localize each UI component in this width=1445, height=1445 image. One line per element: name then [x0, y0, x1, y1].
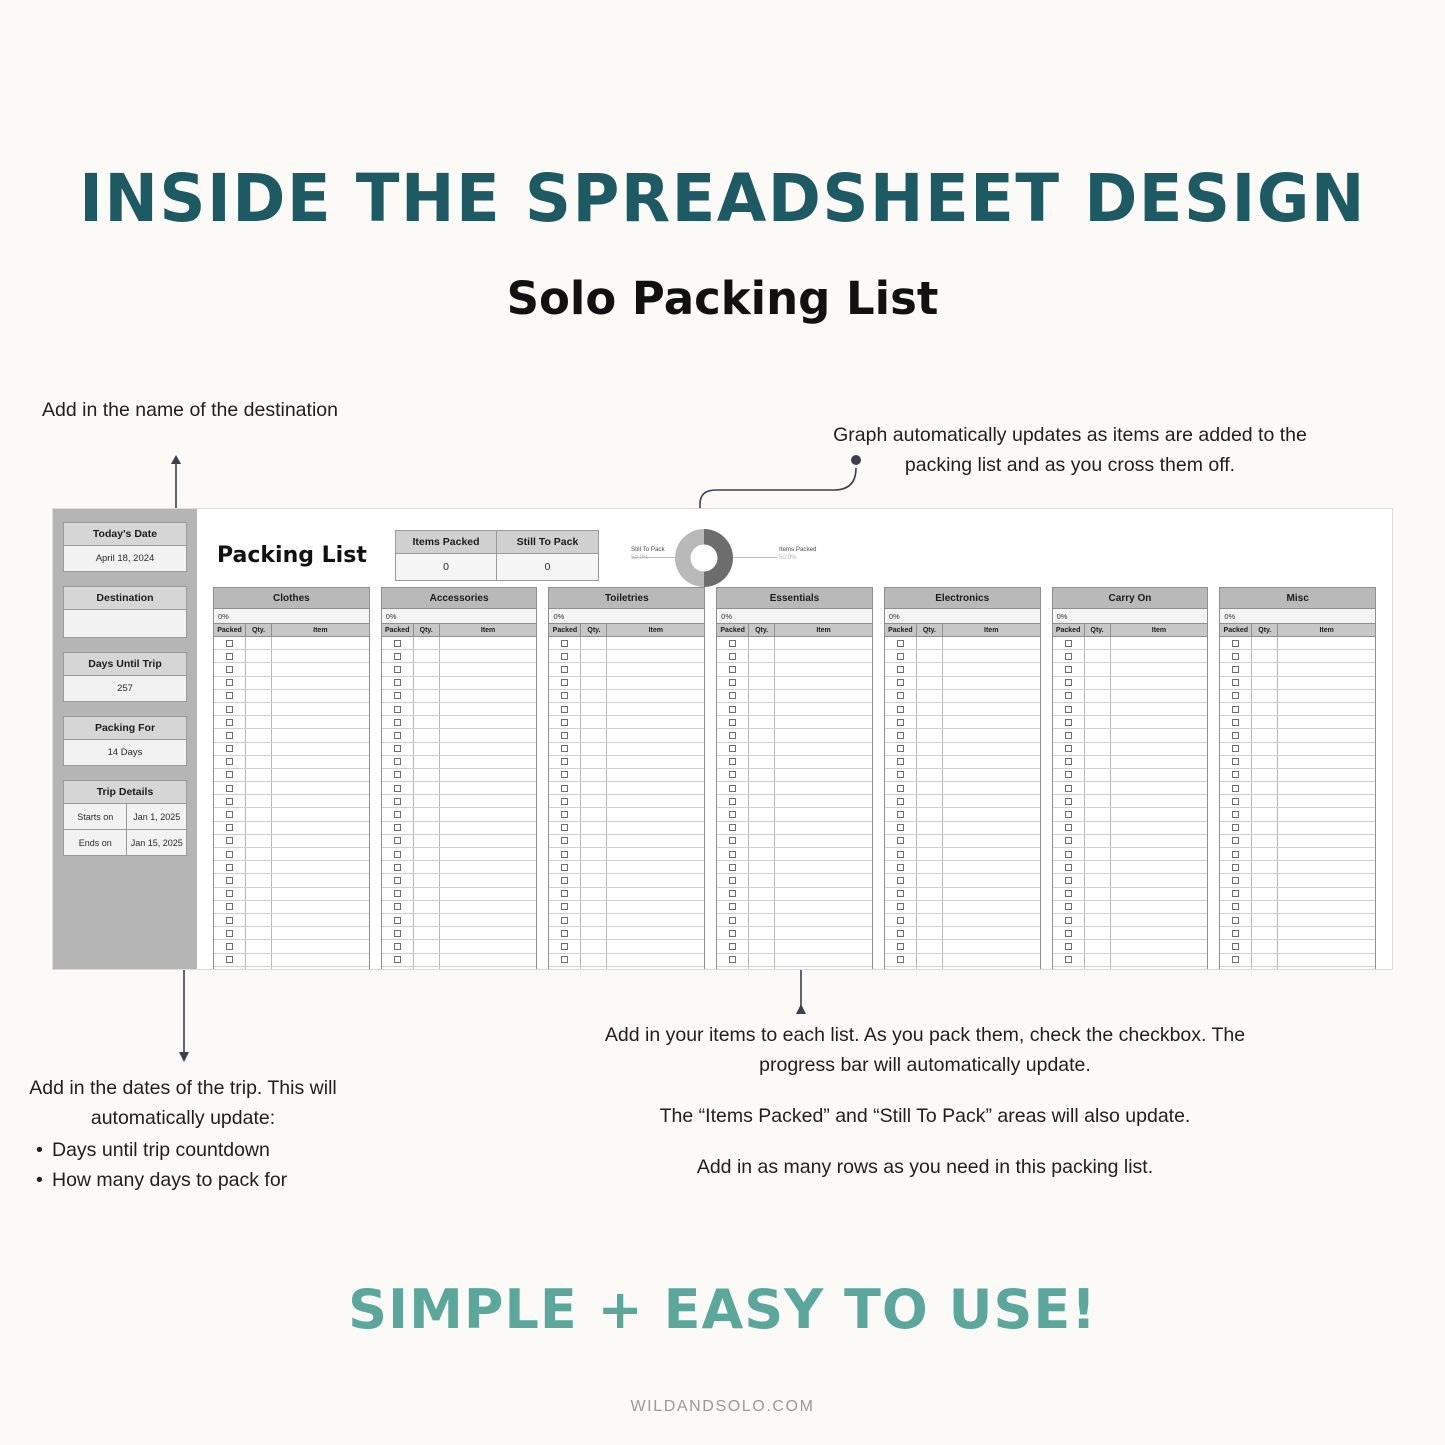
- table-row[interactable]: [717, 967, 872, 970]
- qty-cell[interactable]: [1085, 716, 1111, 728]
- table-row[interactable]: [717, 782, 872, 795]
- table-row[interactable]: [382, 729, 537, 742]
- table-row[interactable]: [1053, 940, 1208, 953]
- table-row[interactable]: [1053, 967, 1208, 970]
- checkbox-icon[interactable]: [1232, 745, 1239, 752]
- packed-cell[interactable]: [382, 822, 414, 834]
- table-row[interactable]: [549, 716, 704, 729]
- qty-cell[interactable]: [1085, 861, 1111, 873]
- qty-cell[interactable]: [917, 703, 943, 715]
- packed-cell[interactable]: [1220, 901, 1252, 913]
- checkbox-icon[interactable]: [729, 837, 736, 844]
- checkbox-icon[interactable]: [1232, 943, 1239, 950]
- packed-cell[interactable]: [1053, 835, 1085, 847]
- qty-cell[interactable]: [1085, 769, 1111, 781]
- qty-cell[interactable]: [414, 914, 440, 926]
- checkbox-icon[interactable]: [1065, 706, 1072, 713]
- packed-cell[interactable]: [885, 940, 917, 952]
- checkbox-icon[interactable]: [897, 785, 904, 792]
- item-cell[interactable]: [1111, 874, 1208, 886]
- item-cell[interactable]: [607, 901, 704, 913]
- packed-cell[interactable]: [717, 782, 749, 794]
- checkbox-icon[interactable]: [561, 956, 568, 963]
- qty-cell[interactable]: [246, 940, 272, 952]
- packed-cell[interactable]: [214, 690, 246, 702]
- qty-cell[interactable]: [749, 888, 775, 900]
- table-row[interactable]: [382, 914, 537, 927]
- packed-cell[interactable]: [214, 822, 246, 834]
- packed-cell[interactable]: [1220, 835, 1252, 847]
- item-cell[interactable]: [775, 940, 872, 952]
- qty-cell[interactable]: [246, 808, 272, 820]
- item-cell[interactable]: [775, 927, 872, 939]
- packed-cell[interactable]: [1053, 822, 1085, 834]
- table-row[interactable]: [214, 637, 369, 650]
- item-cell[interactable]: [272, 756, 369, 768]
- packed-cell[interactable]: [1220, 914, 1252, 926]
- table-row[interactable]: [1220, 756, 1375, 769]
- packed-cell[interactable]: [717, 954, 749, 966]
- table-row[interactable]: [717, 650, 872, 663]
- packed-cell[interactable]: [382, 743, 414, 755]
- checkbox-icon[interactable]: [1065, 943, 1072, 950]
- qty-cell[interactable]: [581, 848, 607, 860]
- checkbox-icon[interactable]: [729, 851, 736, 858]
- item-cell[interactable]: [440, 967, 537, 970]
- qty-cell[interactable]: [246, 769, 272, 781]
- checkbox-icon[interactable]: [226, 653, 233, 660]
- qty-cell[interactable]: [749, 677, 775, 689]
- item-cell[interactable]: [440, 716, 537, 728]
- checkbox-icon[interactable]: [1065, 877, 1072, 884]
- table-row[interactable]: [1220, 650, 1375, 663]
- packed-cell[interactable]: [1053, 861, 1085, 873]
- checkbox-icon[interactable]: [729, 679, 736, 686]
- item-cell[interactable]: [943, 690, 1040, 702]
- qty-cell[interactable]: [414, 663, 440, 675]
- qty-cell[interactable]: [246, 888, 272, 900]
- item-cell[interactable]: [440, 637, 537, 649]
- checkbox-icon[interactable]: [1232, 679, 1239, 686]
- table-row[interactable]: [717, 927, 872, 940]
- packed-cell[interactable]: [885, 716, 917, 728]
- packed-cell[interactable]: [1053, 874, 1085, 886]
- qty-cell[interactable]: [414, 690, 440, 702]
- packed-cell[interactable]: [549, 940, 581, 952]
- item-cell[interactable]: [1278, 808, 1375, 820]
- table-row[interactable]: [717, 756, 872, 769]
- table-row[interactable]: [885, 822, 1040, 835]
- table-row[interactable]: [382, 756, 537, 769]
- table-row[interactable]: [214, 848, 369, 861]
- item-cell[interactable]: [272, 650, 369, 662]
- qty-cell[interactable]: [1085, 822, 1111, 834]
- item-cell[interactable]: [1278, 729, 1375, 741]
- table-row[interactable]: [1220, 677, 1375, 690]
- item-cell[interactable]: [607, 808, 704, 820]
- packed-cell[interactable]: [885, 901, 917, 913]
- table-row[interactable]: [1220, 914, 1375, 927]
- packed-cell[interactable]: [885, 650, 917, 662]
- table-row[interactable]: [549, 848, 704, 861]
- table-row[interactable]: [1053, 861, 1208, 874]
- packed-cell[interactable]: [1053, 650, 1085, 662]
- checkbox-icon[interactable]: [394, 811, 401, 818]
- checkbox-icon[interactable]: [561, 917, 568, 924]
- qty-cell[interactable]: [1085, 795, 1111, 807]
- packed-cell[interactable]: [549, 769, 581, 781]
- qty-cell[interactable]: [246, 703, 272, 715]
- table-row[interactable]: [549, 940, 704, 953]
- checkbox-icon[interactable]: [394, 798, 401, 805]
- checkbox-icon[interactable]: [729, 666, 736, 673]
- packed-cell[interactable]: [885, 769, 917, 781]
- packed-cell[interactable]: [549, 795, 581, 807]
- packed-cell[interactable]: [1053, 782, 1085, 794]
- qty-cell[interactable]: [581, 743, 607, 755]
- checkbox-icon[interactable]: [897, 824, 904, 831]
- table-row[interactable]: [1220, 888, 1375, 901]
- checkbox-icon[interactable]: [561, 903, 568, 910]
- table-row[interactable]: [1053, 782, 1208, 795]
- item-cell[interactable]: [272, 663, 369, 675]
- checkbox-icon[interactable]: [561, 890, 568, 897]
- qty-cell[interactable]: [246, 743, 272, 755]
- item-cell[interactable]: [1278, 677, 1375, 689]
- packed-cell[interactable]: [1220, 822, 1252, 834]
- item-cell[interactable]: [1111, 637, 1208, 649]
- item-cell[interactable]: [607, 663, 704, 675]
- packed-cell[interactable]: [214, 650, 246, 662]
- item-cell[interactable]: [775, 808, 872, 820]
- item-cell[interactable]: [1111, 888, 1208, 900]
- qty-cell[interactable]: [917, 743, 943, 755]
- checkbox-icon[interactable]: [897, 864, 904, 871]
- checkbox-icon[interactable]: [1065, 930, 1072, 937]
- item-cell[interactable]: [440, 927, 537, 939]
- table-row[interactable]: [885, 703, 1040, 716]
- qty-cell[interactable]: [414, 874, 440, 886]
- packed-cell[interactable]: [214, 716, 246, 728]
- item-cell[interactable]: [272, 677, 369, 689]
- item-cell[interactable]: [607, 677, 704, 689]
- item-cell[interactable]: [943, 663, 1040, 675]
- qty-cell[interactable]: [749, 808, 775, 820]
- packed-cell[interactable]: [717, 650, 749, 662]
- qty-cell[interactable]: [581, 927, 607, 939]
- item-cell[interactable]: [607, 861, 704, 873]
- qty-cell[interactable]: [414, 782, 440, 794]
- qty-cell[interactable]: [1252, 967, 1278, 970]
- packed-cell[interactable]: [1053, 940, 1085, 952]
- table-row[interactable]: [1220, 663, 1375, 676]
- checkbox-icon[interactable]: [1232, 917, 1239, 924]
- item-cell[interactable]: [1111, 848, 1208, 860]
- checkbox-icon[interactable]: [226, 877, 233, 884]
- table-row[interactable]: [885, 769, 1040, 782]
- table-row[interactable]: [214, 940, 369, 953]
- packed-cell[interactable]: [885, 677, 917, 689]
- checkbox-icon[interactable]: [226, 706, 233, 713]
- packed-cell[interactable]: [549, 782, 581, 794]
- qty-cell[interactable]: [1252, 927, 1278, 939]
- qty-cell[interactable]: [414, 743, 440, 755]
- item-cell[interactable]: [1111, 677, 1208, 689]
- checkbox-icon[interactable]: [561, 785, 568, 792]
- checkbox-icon[interactable]: [394, 824, 401, 831]
- table-row[interactable]: [214, 690, 369, 703]
- table-row[interactable]: [1053, 901, 1208, 914]
- packed-cell[interactable]: [1220, 650, 1252, 662]
- table-row[interactable]: [549, 861, 704, 874]
- item-cell[interactable]: [943, 716, 1040, 728]
- qty-cell[interactable]: [581, 650, 607, 662]
- table-row[interactable]: [1053, 650, 1208, 663]
- checkbox-icon[interactable]: [561, 877, 568, 884]
- packed-cell[interactable]: [1053, 795, 1085, 807]
- item-cell[interactable]: [1278, 637, 1375, 649]
- packed-cell[interactable]: [885, 927, 917, 939]
- checkbox-icon[interactable]: [226, 943, 233, 950]
- qty-cell[interactable]: [1252, 795, 1278, 807]
- checkbox-icon[interactable]: [1232, 692, 1239, 699]
- checkbox-icon[interactable]: [394, 956, 401, 963]
- qty-cell[interactable]: [917, 756, 943, 768]
- packed-cell[interactable]: [214, 808, 246, 820]
- table-row[interactable]: [1220, 901, 1375, 914]
- checkbox-icon[interactable]: [1232, 771, 1239, 778]
- packed-cell[interactable]: [214, 743, 246, 755]
- table-row[interactable]: [1220, 848, 1375, 861]
- qty-cell[interactable]: [414, 954, 440, 966]
- checkbox-icon[interactable]: [897, 653, 904, 660]
- checkbox-icon[interactable]: [394, 653, 401, 660]
- qty-cell[interactable]: [1085, 729, 1111, 741]
- packed-cell[interactable]: [1220, 861, 1252, 873]
- item-cell[interactable]: [1111, 822, 1208, 834]
- checkbox-icon[interactable]: [1065, 837, 1072, 844]
- packed-cell[interactable]: [1220, 637, 1252, 649]
- packed-cell[interactable]: [717, 874, 749, 886]
- qty-cell[interactable]: [581, 901, 607, 913]
- qty-cell[interactable]: [246, 967, 272, 970]
- item-cell[interactable]: [775, 835, 872, 847]
- checkbox-icon[interactable]: [394, 864, 401, 871]
- qty-cell[interactable]: [917, 650, 943, 662]
- table-row[interactable]: [214, 650, 369, 663]
- item-cell[interactable]: [272, 769, 369, 781]
- item-cell[interactable]: [1278, 743, 1375, 755]
- qty-cell[interactable]: [1085, 835, 1111, 847]
- item-cell[interactable]: [1278, 940, 1375, 952]
- packed-cell[interactable]: [382, 690, 414, 702]
- packed-cell[interactable]: [382, 967, 414, 970]
- item-cell[interactable]: [943, 729, 1040, 741]
- checkbox-icon[interactable]: [897, 930, 904, 937]
- item-cell[interactable]: [607, 914, 704, 926]
- checkbox-icon[interactable]: [226, 824, 233, 831]
- item-cell[interactable]: [775, 954, 872, 966]
- checkbox-icon[interactable]: [897, 917, 904, 924]
- table-row[interactable]: [382, 690, 537, 703]
- table-row[interactable]: [382, 808, 537, 821]
- table-row[interactable]: [549, 822, 704, 835]
- checkbox-icon[interactable]: [1232, 969, 1239, 970]
- qty-cell[interactable]: [1252, 874, 1278, 886]
- item-cell[interactable]: [1111, 703, 1208, 715]
- item-cell[interactable]: [607, 940, 704, 952]
- item-cell[interactable]: [607, 888, 704, 900]
- checkbox-icon[interactable]: [1232, 666, 1239, 673]
- table-row[interactable]: [885, 848, 1040, 861]
- packed-cell[interactable]: [214, 848, 246, 860]
- checkbox-icon[interactable]: [394, 758, 401, 765]
- qty-cell[interactable]: [1252, 690, 1278, 702]
- packed-cell[interactable]: [214, 861, 246, 873]
- table-row[interactable]: [214, 874, 369, 887]
- packed-cell[interactable]: [214, 874, 246, 886]
- packed-cell[interactable]: [214, 835, 246, 847]
- table-row[interactable]: [885, 914, 1040, 927]
- qty-cell[interactable]: [581, 782, 607, 794]
- qty-cell[interactable]: [414, 927, 440, 939]
- checkbox-icon[interactable]: [1232, 706, 1239, 713]
- item-cell[interactable]: [440, 677, 537, 689]
- packed-cell[interactable]: [1053, 967, 1085, 970]
- item-cell[interactable]: [943, 861, 1040, 873]
- item-cell[interactable]: [943, 888, 1040, 900]
- item-cell[interactable]: [775, 743, 872, 755]
- qty-cell[interactable]: [246, 795, 272, 807]
- table-row[interactable]: [885, 650, 1040, 663]
- packed-cell[interactable]: [1220, 756, 1252, 768]
- qty-cell[interactable]: [1085, 690, 1111, 702]
- item-cell[interactable]: [272, 637, 369, 649]
- qty-cell[interactable]: [1252, 677, 1278, 689]
- packed-cell[interactable]: [717, 808, 749, 820]
- checkbox-icon[interactable]: [394, 890, 401, 897]
- item-cell[interactable]: [607, 756, 704, 768]
- qty-cell[interactable]: [581, 690, 607, 702]
- packed-cell[interactable]: [214, 677, 246, 689]
- item-cell[interactable]: [272, 729, 369, 741]
- packed-cell[interactable]: [214, 663, 246, 675]
- table-row[interactable]: [885, 954, 1040, 967]
- qty-cell[interactable]: [1085, 677, 1111, 689]
- packed-cell[interactable]: [1220, 769, 1252, 781]
- packed-cell[interactable]: [382, 835, 414, 847]
- table-row[interactable]: [549, 703, 704, 716]
- item-cell[interactable]: [943, 782, 1040, 794]
- qty-cell[interactable]: [917, 901, 943, 913]
- checkbox-icon[interactable]: [1065, 679, 1072, 686]
- checkbox-icon[interactable]: [1232, 640, 1239, 647]
- checkbox-icon[interactable]: [729, 785, 736, 792]
- table-row[interactable]: [717, 940, 872, 953]
- item-cell[interactable]: [440, 756, 537, 768]
- checkbox-icon[interactable]: [1065, 771, 1072, 778]
- packed-cell[interactable]: [717, 769, 749, 781]
- item-cell[interactable]: [775, 861, 872, 873]
- checkbox-icon[interactable]: [394, 771, 401, 778]
- checkbox-icon[interactable]: [1232, 785, 1239, 792]
- table-row[interactable]: [214, 927, 369, 940]
- table-row[interactable]: [1053, 769, 1208, 782]
- qty-cell[interactable]: [1085, 637, 1111, 649]
- checkbox-icon[interactable]: [729, 640, 736, 647]
- packed-cell[interactable]: [1220, 716, 1252, 728]
- qty-cell[interactable]: [1252, 954, 1278, 966]
- item-cell[interactable]: [607, 716, 704, 728]
- item-cell[interactable]: [272, 888, 369, 900]
- qty-cell[interactable]: [1085, 967, 1111, 970]
- checkbox-icon[interactable]: [1065, 956, 1072, 963]
- packed-cell[interactable]: [214, 703, 246, 715]
- packed-cell[interactable]: [885, 663, 917, 675]
- checkbox-icon[interactable]: [1232, 956, 1239, 963]
- packed-cell[interactable]: [717, 822, 749, 834]
- table-row[interactable]: [717, 729, 872, 742]
- packed-cell[interactable]: [717, 848, 749, 860]
- packed-cell[interactable]: [382, 927, 414, 939]
- table-row[interactable]: [1220, 954, 1375, 967]
- packed-cell[interactable]: [885, 637, 917, 649]
- item-cell[interactable]: [943, 743, 1040, 755]
- item-cell[interactable]: [440, 743, 537, 755]
- item-cell[interactable]: [1278, 769, 1375, 781]
- qty-cell[interactable]: [917, 835, 943, 847]
- qty-cell[interactable]: [246, 729, 272, 741]
- qty-cell[interactable]: [1085, 940, 1111, 952]
- item-cell[interactable]: [1278, 663, 1375, 675]
- table-row[interactable]: [214, 729, 369, 742]
- item-cell[interactable]: [943, 769, 1040, 781]
- table-row[interactable]: [717, 861, 872, 874]
- item-cell[interactable]: [607, 769, 704, 781]
- checkbox-icon[interactable]: [729, 706, 736, 713]
- checkbox-icon[interactable]: [394, 969, 401, 970]
- qty-cell[interactable]: [1252, 663, 1278, 675]
- packed-cell[interactable]: [717, 914, 749, 926]
- qty-cell[interactable]: [749, 914, 775, 926]
- qty-cell[interactable]: [414, 822, 440, 834]
- qty-cell[interactable]: [581, 822, 607, 834]
- qty-cell[interactable]: [917, 888, 943, 900]
- item-cell[interactable]: [775, 967, 872, 970]
- item-cell[interactable]: [1111, 716, 1208, 728]
- item-cell[interactable]: [943, 808, 1040, 820]
- qty-cell[interactable]: [1085, 663, 1111, 675]
- table-row[interactable]: [885, 940, 1040, 953]
- qty-cell[interactable]: [749, 822, 775, 834]
- packed-cell[interactable]: [382, 914, 414, 926]
- table-row[interactable]: [549, 874, 704, 887]
- qty-cell[interactable]: [1252, 729, 1278, 741]
- packed-cell[interactable]: [214, 888, 246, 900]
- item-cell[interactable]: [440, 795, 537, 807]
- qty-cell[interactable]: [749, 716, 775, 728]
- qty-cell[interactable]: [1252, 756, 1278, 768]
- table-row[interactable]: [214, 888, 369, 901]
- qty-cell[interactable]: [917, 769, 943, 781]
- table-row[interactable]: [885, 795, 1040, 808]
- packed-cell[interactable]: [717, 901, 749, 913]
- checkbox-icon[interactable]: [561, 824, 568, 831]
- table-row[interactable]: [1220, 874, 1375, 887]
- checkbox-icon[interactable]: [226, 745, 233, 752]
- qty-cell[interactable]: [581, 808, 607, 820]
- packed-cell[interactable]: [717, 756, 749, 768]
